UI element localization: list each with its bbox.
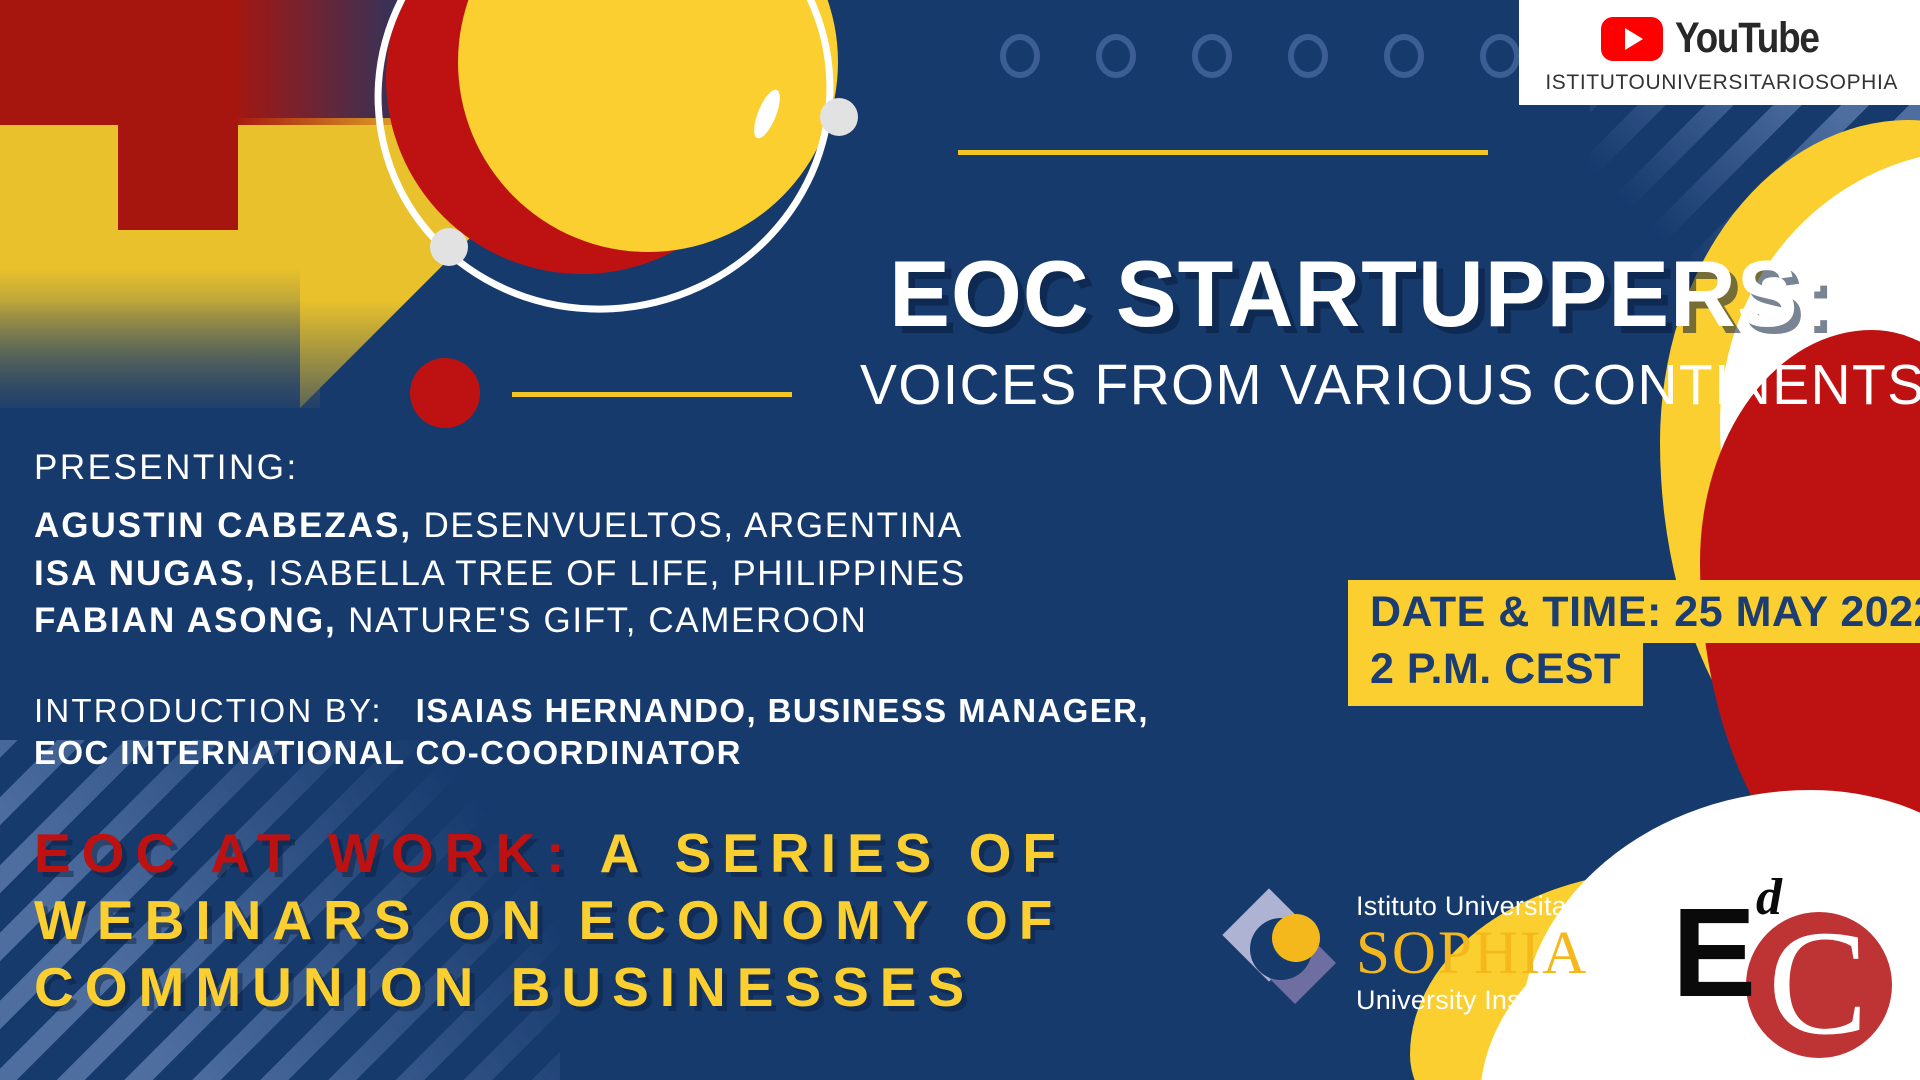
circle-ring-icon [1192, 34, 1232, 78]
speaker-name: AGUSTIN CABEZAS, [34, 506, 412, 545]
circle-ring-icon [1000, 34, 1040, 78]
play-triangle-icon [1625, 28, 1643, 50]
sophia-line-main: SOPHIA [1356, 923, 1597, 985]
speaker-row: ISA NUGAS, ISABELLA TREE OF LIFE, PHILIP… [34, 550, 966, 598]
presenting-block: PRESENTING: AGUSTIN CABEZAS, DESENVUELTO… [34, 448, 966, 645]
planet-highlight-icon [749, 87, 785, 142]
sophia-line-bottom: University Institute [1356, 987, 1597, 1014]
red-dot-decoration [410, 358, 480, 428]
page-title: EOC STARTUPPERS: [860, 248, 1830, 340]
right-swoosh-yellow [1660, 120, 1920, 820]
headline-block: EOC STARTUPPERS: VOICES FROM VARIOUS CON… [830, 248, 1830, 418]
circle-ring-icon [1096, 34, 1136, 78]
orbit-dot [820, 98, 858, 136]
circle-ring-icon [1288, 34, 1328, 78]
speaker-name: ISA NUGAS, [34, 554, 257, 593]
date-time-line-1: DATE & TIME: 25 MAY 2022, [1348, 580, 1920, 643]
orbit-dot [430, 228, 468, 266]
yellow-rule-top [958, 150, 1488, 155]
date-time-line-2: 2 P.M. CEST [1348, 643, 1643, 706]
page-subtitle: VOICES FROM VARIOUS CONTINENTS [860, 352, 1830, 418]
top-left-yellow-block [0, 118, 320, 408]
youtube-badge[interactable]: YouTube ISTITUTOUNIVERSITARIOSOPHIA [1519, 0, 1920, 105]
series-highlight: EOC AT WORK: [34, 822, 575, 884]
introduction-line-2: EOC INTERNATIONAL CO-COORDINATOR [34, 732, 1149, 774]
circle-ring-icon [1384, 34, 1424, 78]
series-headline: EOC AT WORK: A SERIES OF WEBINARS ON ECO… [34, 820, 1104, 1021]
youtube-play-icon [1601, 17, 1663, 61]
planet-red-crescent [386, 0, 778, 274]
youtube-logo: YouTube [1601, 14, 1842, 63]
presenting-label: PRESENTING: [34, 448, 966, 488]
speaker-row: FABIAN ASONG, NATURE'S GIFT, CAMEROON [34, 597, 966, 645]
sophia-wordmark: Istituto Universitario SOPHIA University… [1356, 893, 1597, 1014]
sophia-circle-yellow [1272, 914, 1320, 962]
circle-row-decoration [1000, 34, 1520, 78]
introduction-line-1: INTRODUCTION BY: ISAIAS HERNANDO, BUSINE… [34, 690, 1149, 732]
edc-letter-e: E [1672, 904, 1756, 1002]
date-time-badge: DATE & TIME: 25 MAY 2022, 2 P.M. CEST [1348, 580, 1920, 706]
top-left-yellow-triangle [300, 118, 590, 408]
top-left-red-stem [118, 0, 238, 230]
poster-canvas: YouTube ISTITUTOUNIVERSITARIOSOPHIA EOC … [0, 0, 1920, 1080]
speaker-name: FABIAN ASONG, [34, 601, 337, 640]
edc-letter-c: C [1768, 914, 1868, 1052]
speaker-info: NATURE'S GIFT, CAMEROON [348, 601, 867, 640]
sophia-mark-icon [1228, 898, 1340, 1010]
edc-logo: E d C [1672, 872, 1892, 1067]
planet-yellow-orb [458, 0, 838, 252]
orbit-ring [328, 0, 881, 361]
sophia-line-top: Istituto Universitario [1356, 893, 1597, 920]
introduction-name: ISAIAS HERNANDO, BUSINESS MANAGER, [416, 692, 1149, 729]
sophia-logo: Istituto Universitario SOPHIA University… [1228, 893, 1597, 1014]
introduction-label: INTRODUCTION BY: [34, 692, 383, 729]
top-left-red-bar [0, 0, 430, 125]
circle-ring-icon [1480, 34, 1520, 78]
introduction-block: INTRODUCTION BY: ISAIAS HERNANDO, BUSINE… [34, 690, 1149, 774]
top-left-red-corner [0, 0, 130, 125]
speaker-info: DESENVUELTOS, ARGENTINA [423, 506, 962, 545]
youtube-channel-name: ISTITUTOUNIVERSITARIOSOPHIA [1545, 71, 1898, 95]
youtube-wordmark: YouTube [1675, 14, 1819, 63]
speaker-info: ISABELLA TREE OF LIFE, PHILIPPINES [268, 554, 966, 593]
speaker-row: AGUSTIN CABEZAS, DESENVUELTOS, ARGENTINA [34, 502, 966, 550]
yellow-rule-middle [512, 392, 792, 397]
